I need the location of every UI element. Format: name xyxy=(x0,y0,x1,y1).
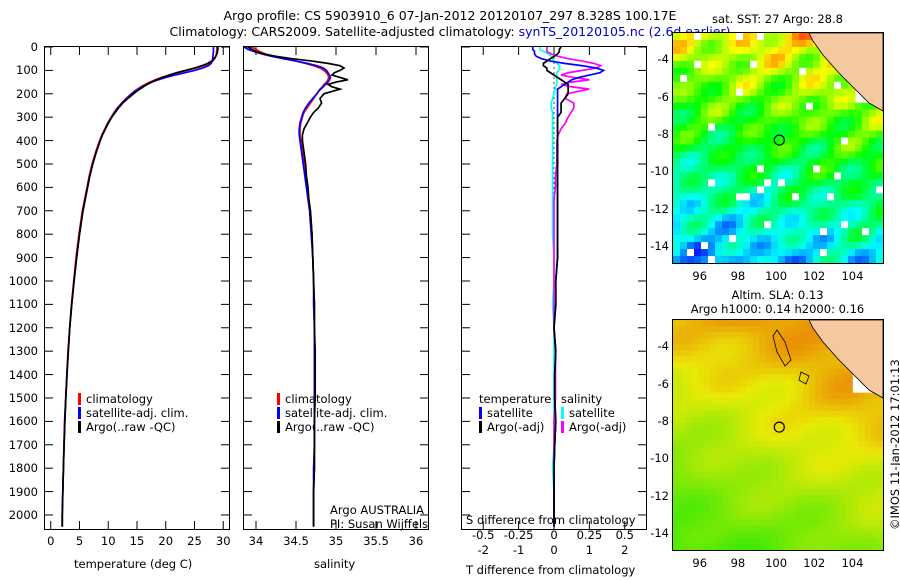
legend-swatch-satellite xyxy=(479,407,482,419)
legend-label: climatology xyxy=(285,392,352,406)
legend-label: satellite xyxy=(487,406,533,420)
depth-tick-label: 500 xyxy=(0,157,38,171)
legend-header-temperature: temperature xyxy=(479,392,551,406)
axis-tick-label: 0.5 xyxy=(607,528,643,542)
depth-tick-label: 1200 xyxy=(0,321,38,335)
legend-item: Argo(-adj) xyxy=(479,420,551,434)
depth-tick-label: 100 xyxy=(0,63,38,77)
legend-item: Argo(..raw -QC) xyxy=(277,420,387,434)
latitude-tick-label: -6 xyxy=(639,90,669,104)
difference-legend-salinity: salinity satellite Argo(-adj) xyxy=(561,392,626,434)
legend-swatch-argo xyxy=(78,421,81,433)
latitude-tick-label: -6 xyxy=(639,377,669,391)
longitude-tick-label: 102 xyxy=(796,556,832,570)
axis-tick-label: -2 xyxy=(465,543,501,557)
legend-header-row: salinity xyxy=(561,392,626,406)
longitude-tick-label: 98 xyxy=(720,269,756,283)
depth-tick-label: 1300 xyxy=(0,344,38,358)
legend-item: satellite-adj. clim. xyxy=(277,406,387,420)
depth-tick-label: 400 xyxy=(0,134,38,148)
legend-label: Argo(-adj) xyxy=(487,420,544,434)
latitude-tick-label: -12 xyxy=(639,202,669,216)
legend-label: satellite-adj. clim. xyxy=(285,406,387,420)
legend-label: Argo(..raw -QC) xyxy=(285,420,375,434)
latitude-tick-label: -8 xyxy=(639,414,669,428)
legend-item: climatology xyxy=(277,392,387,406)
axis-tick-label: -0.5 xyxy=(465,528,501,542)
axis-tick-label: 2 xyxy=(607,543,643,557)
depth-tick-label: 1500 xyxy=(0,391,38,405)
longitude-tick-label: 104 xyxy=(834,269,870,283)
latitude-tick-label: -14 xyxy=(639,239,669,253)
copyright-label: ©IMOS 11-Jan-2012 17:01:13 xyxy=(888,359,900,530)
depth-tick-label: 1000 xyxy=(0,274,38,288)
legend-swatch-salinity-satellite xyxy=(561,407,564,419)
depth-tick-label: 200 xyxy=(0,87,38,101)
axis-tick-label: 35.5 xyxy=(358,534,394,548)
latitude-tick-label: -4 xyxy=(639,52,669,66)
legend-header-salinity: salinity xyxy=(561,392,602,406)
sst-map-panel xyxy=(672,32,884,264)
depth-tick-label: 2000 xyxy=(0,508,38,522)
legend-swatch-argo xyxy=(277,421,280,433)
temperature-difference-axis-title: T difference from climatology xyxy=(466,563,635,577)
longitude-tick-label: 96 xyxy=(682,269,718,283)
longitude-tick-label: 104 xyxy=(834,556,870,570)
legend-swatch-salinity-argo xyxy=(561,421,564,433)
temperature-axis-title: temperature (deg C) xyxy=(74,557,192,571)
legend-swatch-climatology xyxy=(277,393,280,405)
difference-legend-temperature: temperature satellite Argo(-adj) xyxy=(479,392,551,434)
axis-tick-label: 1 xyxy=(571,543,607,557)
depth-tick-label: 0 xyxy=(0,40,38,54)
axis-tick-label: 36 xyxy=(398,534,434,548)
sla-map-image xyxy=(673,320,883,550)
latitude-tick-label: -10 xyxy=(639,451,669,465)
latitude-tick-label: -10 xyxy=(639,164,669,178)
legend-header-row: temperature xyxy=(479,392,551,406)
depth-tick-label: 600 xyxy=(0,180,38,194)
salinity-legend: climatology satellite-adj. clim. Argo(..… xyxy=(277,392,387,434)
argo-program-line-2: PI: Susan Wijffels xyxy=(330,517,428,531)
latitude-tick-label: -8 xyxy=(639,127,669,141)
legend-swatch-satellite xyxy=(78,407,81,419)
salinity-difference-axis-title: S difference from climatology xyxy=(466,513,636,527)
depth-tick-label: 900 xyxy=(0,251,38,265)
longitude-tick-label: 98 xyxy=(720,556,756,570)
sla-map-title-line-2: Argo h1000: 0.14 h2000: 0.16 xyxy=(660,302,895,316)
sst-map-title: sat. SST: 27 Argo: 28.8 xyxy=(660,12,895,26)
longitude-tick-label: 100 xyxy=(758,269,794,283)
axis-tick-label: 34 xyxy=(238,534,274,548)
axis-tick-label: 0 xyxy=(536,543,572,557)
legend-label: satellite xyxy=(569,406,615,420)
depth-tick-label: 1800 xyxy=(0,461,38,475)
legend-label: satellite-adj. clim. xyxy=(86,406,188,420)
sla-map-title-line-1: Altim. SLA: 0.13 xyxy=(660,288,895,302)
legend-item: climatology xyxy=(78,392,188,406)
difference-plot-area xyxy=(462,47,646,529)
sst-map-image xyxy=(673,33,883,263)
title-line-2-prefix: Climatology: CARS2009. Satellite-adjuste… xyxy=(170,24,519,39)
legend-label: Argo(..raw -QC) xyxy=(86,420,176,434)
depth-tick-label: 1600 xyxy=(0,414,38,428)
sla-map-panel xyxy=(672,319,884,551)
legend-item: Argo(..raw -QC) xyxy=(78,420,188,434)
legend-label: Argo(-adj) xyxy=(569,420,626,434)
legend-item: satellite xyxy=(561,406,626,420)
axis-tick-label: 34.5 xyxy=(278,534,314,548)
argo-program-annotation: Argo AUSTRALIA PI: Susan Wijffels xyxy=(330,503,428,531)
longitude-tick-label: 102 xyxy=(796,269,832,283)
axis-tick-label: -0.25 xyxy=(501,528,537,542)
axis-tick-label: 35 xyxy=(318,534,354,548)
depth-tick-label: 1100 xyxy=(0,297,38,311)
axis-tick-label: -1 xyxy=(501,543,537,557)
latitude-tick-label: -14 xyxy=(639,526,669,540)
legend-swatch-satellite xyxy=(277,407,280,419)
legend-swatch-argo xyxy=(479,421,482,433)
legend-label: climatology xyxy=(86,392,153,406)
depth-tick-label: 1400 xyxy=(0,368,38,382)
latitude-tick-label: -4 xyxy=(639,339,669,353)
longitude-tick-label: 96 xyxy=(682,556,718,570)
latitude-tick-label: -12 xyxy=(639,489,669,503)
depth-tick-label: 700 xyxy=(0,204,38,218)
axis-tick-label: 0.25 xyxy=(571,528,607,542)
axis-tick-label: 30 xyxy=(205,534,241,548)
depth-tick-label: 1700 xyxy=(0,438,38,452)
longitude-tick-label: 100 xyxy=(758,556,794,570)
depth-tick-label: 800 xyxy=(0,227,38,241)
axis-tick-label: 0 xyxy=(536,528,572,542)
salinity-axis-title: salinity xyxy=(314,557,355,571)
legend-item: satellite-adj. clim. xyxy=(78,406,188,420)
temperature-plot-area xyxy=(45,47,229,529)
salinity-plot-area xyxy=(244,47,428,529)
depth-tick-label: 300 xyxy=(0,110,38,124)
argo-program-line-1: Argo AUSTRALIA xyxy=(330,503,428,517)
legend-swatch-climatology xyxy=(78,393,81,405)
legend-item: satellite xyxy=(479,406,551,420)
legend-item: Argo(-adj) xyxy=(561,420,626,434)
sla-map-title: Altim. SLA: 0.13 Argo h1000: 0.14 h2000:… xyxy=(660,288,895,316)
temperature-legend: climatology satellite-adj. clim. Argo(..… xyxy=(78,392,188,434)
depth-tick-label: 1900 xyxy=(0,485,38,499)
